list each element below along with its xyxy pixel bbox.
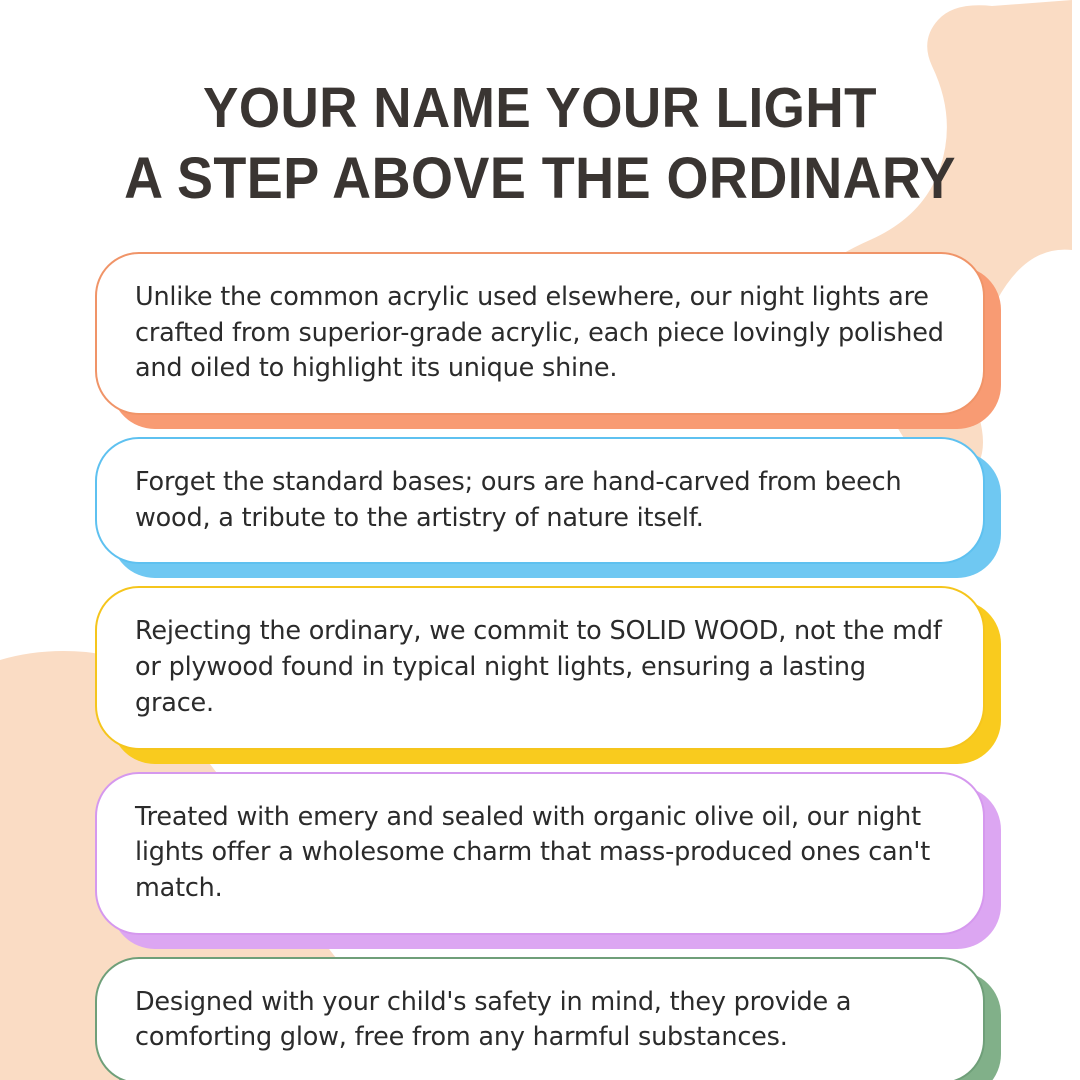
headline-line-2: A STEP ABOVE THE ORDINARY [38, 144, 1042, 215]
card-body: Forget the standard bases; ours are hand… [95, 437, 985, 564]
headline-block: YOUR NAME YOUR LIGHT A STEP ABOVE THE OR… [0, 74, 1080, 214]
feature-card-beech-wood: Forget the standard bases; ours are hand… [95, 437, 985, 564]
card-text: Unlike the common acrylic used elsewhere… [135, 280, 949, 387]
feature-card-child-safety: Designed with your child's safety in min… [95, 957, 985, 1080]
feature-card-solid-wood: Rejecting the ordinary, we commit to SOL… [95, 586, 985, 749]
feature-card-list: Unlike the common acrylic used elsewhere… [0, 252, 1080, 1080]
card-text: Designed with your child's safety in min… [135, 985, 949, 1056]
poster-canvas: YOUR NAME YOUR LIGHT A STEP ABOVE THE OR… [0, 0, 1080, 1080]
card-text: Forget the standard bases; ours are hand… [135, 465, 949, 536]
feature-card-olive-oil: Treated with emery and sealed with organ… [95, 772, 985, 935]
card-text: Treated with emery and sealed with organ… [135, 800, 949, 907]
card-body: Designed with your child's safety in min… [95, 957, 985, 1080]
headline-line-1: YOUR NAME YOUR LIGHT [38, 74, 1042, 144]
card-body: Rejecting the ordinary, we commit to SOL… [95, 586, 985, 749]
feature-card-acrylic: Unlike the common acrylic used elsewhere… [95, 252, 985, 415]
card-body: Unlike the common acrylic used elsewhere… [95, 252, 985, 415]
card-body: Treated with emery and sealed with organ… [95, 772, 985, 935]
card-text: Rejecting the ordinary, we commit to SOL… [135, 614, 949, 721]
